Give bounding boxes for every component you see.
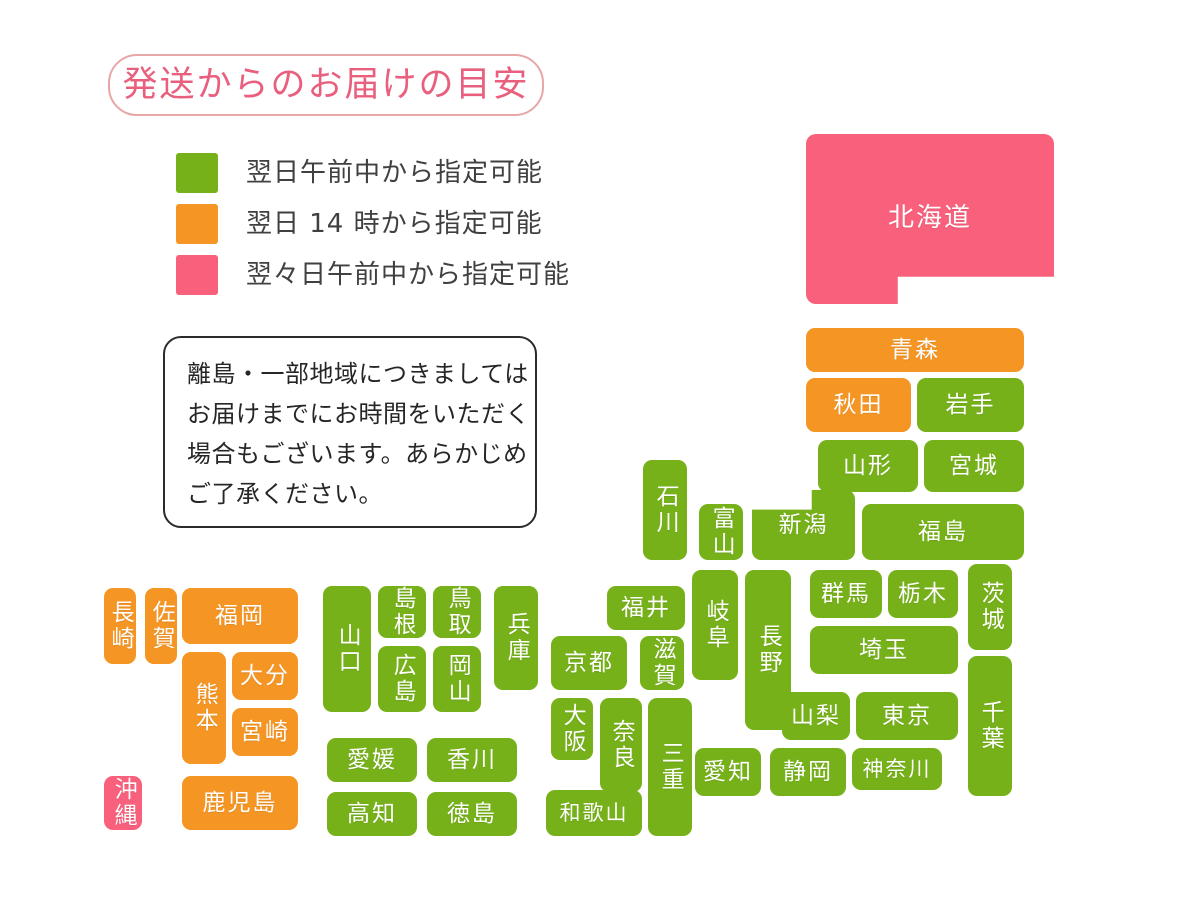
pref-ibaraki[interactable]: 茨城	[968, 564, 1012, 650]
pref-label-fukui: 福井	[621, 596, 671, 620]
pref-label-kumamoto: 熊本	[192, 682, 216, 734]
pref-label-ibaraki: 茨城	[978, 581, 1002, 633]
pref-shizuoka[interactable]: 静岡	[770, 748, 846, 796]
pref-label-shizuoka: 静岡	[783, 760, 833, 784]
legend-label-pink: 翌々日午前中から指定可能	[246, 262, 570, 288]
pref-label-osaka: 大阪	[560, 703, 584, 755]
pref-yamanashi[interactable]: 山梨	[782, 692, 850, 740]
pref-label-shiga: 滋賀	[650, 637, 674, 689]
title-banner: 発送からのお届けの目安	[108, 54, 544, 116]
pref-label-mie: 三重	[658, 741, 682, 793]
pref-label-shimane: 島根	[390, 586, 414, 638]
pref-tochigi[interactable]: 栃木	[888, 570, 958, 618]
disclaimer-note: 離島・一部地域につきましては お届けまでにお時間をいただく 場合もございます。あ…	[163, 336, 537, 528]
pref-label-kanagawa: 神奈川	[863, 758, 932, 780]
pref-fukushima[interactable]: 福島	[862, 504, 1024, 560]
pref-label-iwate: 岩手	[946, 393, 996, 417]
pref-label-oita: 大分	[240, 664, 290, 688]
pref-label-miyazaki: 宮崎	[240, 720, 290, 744]
pref-label-kochi: 高知	[347, 802, 397, 826]
pref-saga[interactable]: 佐賀	[145, 588, 177, 664]
legend-swatch-pink-icon	[176, 255, 218, 295]
pref-aichi[interactable]: 愛知	[695, 748, 761, 796]
pref-label-toyama: 富山	[709, 506, 733, 558]
note-line-3: 場合もございます。あらかじめ	[187, 434, 513, 474]
pref-label-fukushima: 福島	[918, 520, 968, 544]
pref-label-gifu: 岐阜	[703, 599, 727, 651]
pref-label-kyoto: 京都	[564, 651, 614, 675]
legend-swatch-green-icon	[176, 153, 218, 193]
pref-niigata[interactable]: 新潟	[752, 490, 855, 560]
page-title: 発送からのお届けの目安	[122, 68, 529, 103]
pref-ishikawa[interactable]: 石川	[643, 460, 687, 560]
pref-kanagawa[interactable]: 神奈川	[852, 748, 942, 790]
pref-label-ehime: 愛媛	[347, 748, 397, 772]
pref-label-okinawa: 沖縄	[111, 777, 135, 829]
pref-label-aichi: 愛知	[703, 760, 753, 784]
legend-item-green: 翌日午前中から指定可能	[176, 152, 570, 194]
note-line-1: 離島・一部地域につきましては	[187, 354, 513, 394]
pref-gunma[interactable]: 群馬	[810, 570, 882, 618]
pref-gifu[interactable]: 岐阜	[692, 570, 738, 680]
pref-oita[interactable]: 大分	[232, 652, 298, 700]
pref-mie[interactable]: 三重	[648, 698, 692, 836]
pref-kagoshima[interactable]: 鹿児島	[182, 776, 298, 830]
pref-shimane[interactable]: 島根	[378, 586, 426, 638]
pref-kagawa[interactable]: 香川	[427, 738, 517, 782]
pref-chiba[interactable]: 千葉	[968, 656, 1012, 796]
pref-shiga[interactable]: 滋賀	[640, 636, 684, 690]
pref-label-nara: 奈良	[609, 719, 633, 771]
pref-label-yamanashi: 山梨	[791, 704, 841, 728]
pref-hyogo[interactable]: 兵庫	[494, 586, 538, 690]
legend-item-pink: 翌々日午前中から指定可能	[176, 254, 570, 296]
pref-label-yamaguchi: 山口	[335, 623, 359, 675]
pref-kyoto[interactable]: 京都	[551, 636, 627, 690]
pref-label-hokkaido: 北海道	[888, 205, 972, 232]
infographic-canvas: 発送からのお届けの目安 翌日午前中から指定可能 翌日 14 時から指定可能 翌々…	[0, 0, 1200, 900]
pref-okayama[interactable]: 岡山	[433, 646, 481, 712]
pref-label-chiba: 千葉	[978, 700, 1002, 752]
pref-label-kagoshima: 鹿児島	[203, 791, 278, 815]
pref-nara[interactable]: 奈良	[600, 698, 642, 792]
pref-saitama[interactable]: 埼玉	[810, 626, 958, 674]
pref-label-nagano: 長野	[756, 624, 780, 676]
pref-nagasaki[interactable]: 長崎	[104, 588, 136, 664]
pref-toyama[interactable]: 富山	[699, 504, 743, 560]
pref-label-gunma: 群馬	[821, 582, 871, 606]
pref-label-fukuoka: 福岡	[215, 604, 265, 628]
pref-kochi[interactable]: 高知	[327, 792, 417, 836]
pref-ehime[interactable]: 愛媛	[327, 738, 417, 782]
legend-label-green: 翌日午前中から指定可能	[246, 160, 543, 186]
pref-hokkaido[interactable]: 北海道	[806, 134, 1054, 304]
pref-akita[interactable]: 秋田	[806, 378, 911, 432]
pref-label-saitama: 埼玉	[859, 638, 909, 662]
pref-iwate[interactable]: 岩手	[917, 378, 1024, 432]
note-line-4: ご了承ください。	[187, 474, 513, 514]
pref-fukuoka[interactable]: 福岡	[182, 588, 298, 644]
pref-label-okayama: 岡山	[445, 653, 469, 705]
legend-label-orange: 翌日 14 時から指定可能	[246, 211, 543, 237]
pref-label-tochigi: 栃木	[898, 582, 948, 606]
pref-kumamoto[interactable]: 熊本	[182, 652, 226, 764]
pref-label-tokushima: 徳島	[447, 802, 497, 826]
pref-label-ishikawa: 石川	[653, 484, 677, 536]
pref-label-yamagata: 山形	[843, 454, 893, 478]
pref-label-wakayama: 和歌山	[560, 802, 629, 824]
pref-label-miyagi: 宮城	[949, 454, 999, 478]
pref-yamagata[interactable]: 山形	[818, 440, 918, 492]
pref-label-kagawa: 香川	[447, 748, 497, 772]
legend-swatch-orange-icon	[176, 204, 218, 244]
note-line-2: お届けまでにお時間をいただく	[187, 394, 513, 434]
pref-tokushima[interactable]: 徳島	[427, 792, 517, 836]
pref-okinawa[interactable]: 沖縄	[104, 776, 142, 830]
pref-tokyo[interactable]: 東京	[856, 692, 958, 740]
pref-osaka[interactable]: 大阪	[551, 698, 593, 760]
pref-label-niigata: 新潟	[779, 513, 829, 537]
pref-label-hiroshima: 広島	[390, 653, 414, 705]
pref-label-tokyo: 東京	[882, 704, 932, 728]
pref-fukui[interactable]: 福井	[607, 586, 685, 630]
pref-label-tottori: 鳥取	[445, 586, 469, 638]
pref-label-aomori: 青森	[890, 338, 940, 362]
pref-wakayama[interactable]: 和歌山	[546, 790, 642, 836]
pref-tottori[interactable]: 鳥取	[433, 586, 481, 638]
pref-miyagi[interactable]: 宮城	[924, 440, 1024, 492]
pref-miyazaki[interactable]: 宮崎	[232, 708, 298, 756]
pref-aomori[interactable]: 青森	[806, 328, 1024, 372]
pref-label-saga: 佐賀	[149, 600, 173, 652]
legend: 翌日午前中から指定可能 翌日 14 時から指定可能 翌々日午前中から指定可能	[176, 152, 570, 305]
pref-label-hyogo: 兵庫	[504, 612, 528, 664]
pref-hiroshima[interactable]: 広島	[378, 646, 426, 712]
pref-label-nagasaki: 長崎	[108, 600, 132, 652]
pref-yamaguchi[interactable]: 山口	[323, 586, 371, 712]
pref-label-akita: 秋田	[834, 393, 884, 417]
legend-item-orange: 翌日 14 時から指定可能	[176, 203, 570, 245]
